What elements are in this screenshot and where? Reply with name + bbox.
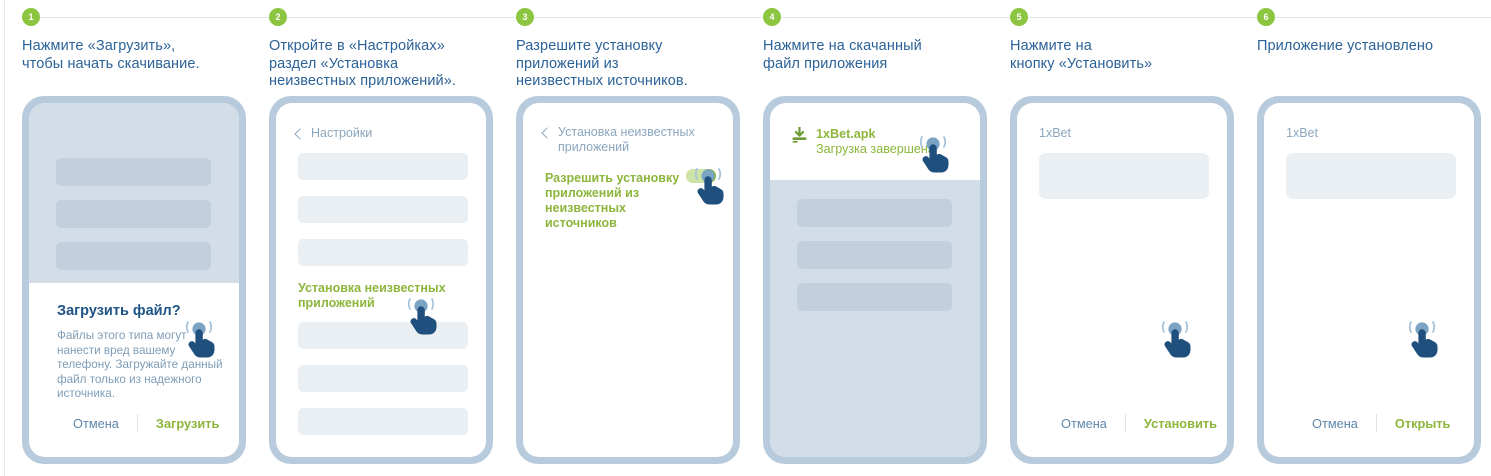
chevron-left-icon[interactable]	[294, 128, 305, 139]
action-divider	[1125, 414, 1126, 432]
left-vertical-rule	[4, 0, 5, 476]
step-5-caption: Нажмите на кнопку «Установить»	[1010, 38, 1257, 73]
tap-hand-icon	[1156, 320, 1196, 362]
phone-frame: Загрузить файл? Файлы этого типа могут н…	[22, 96, 246, 464]
app-name-label: 1xBet	[1286, 126, 1318, 140]
install-dialog-actions: Отмена Установить	[1061, 414, 1217, 432]
step-1-header: 1	[22, 0, 269, 34]
settings-row[interactable]	[298, 365, 468, 392]
step-number-badge: 2	[269, 8, 287, 26]
cancel-button[interactable]: Отмена	[73, 416, 119, 431]
tap-hand-icon	[689, 167, 729, 209]
step-4: 4 Нажмите на скачанный файл приложения	[763, 0, 1010, 476]
step-1: 1 Нажмите «Загрузить», чтобы начать скач…	[22, 0, 269, 476]
phone-frame: Установка неизвестных приложений Разреши…	[516, 96, 740, 464]
settings-row[interactable]	[298, 408, 468, 435]
step-5-header: 5	[1010, 0, 1257, 34]
step-6-phone: 1xBet Отмена Открыть	[1257, 96, 1481, 464]
step-2-caption: Откройте в «Настройках» раздел «Установк…	[269, 38, 516, 91]
step-4-caption: Нажмите на скачанный файл приложения	[763, 38, 1010, 73]
skeleton-bar	[797, 283, 952, 311]
skeleton-bar	[56, 158, 211, 186]
app-name-header: 1xBet	[1286, 126, 1318, 140]
tap-hand-icon	[180, 320, 220, 362]
settings-row[interactable]	[298, 322, 468, 349]
tap-hand-icon	[914, 135, 954, 177]
dialog-actions: Отмена Загрузить	[73, 414, 219, 432]
step-connector-line	[1010, 17, 1257, 18]
step-4-phone: 1xBet.apk Загрузка завершена	[763, 96, 987, 464]
step-3-phone: Установка неизвестных приложений Разреши…	[516, 96, 740, 464]
download-icon	[792, 127, 807, 148]
step-6-header: 6	[1257, 0, 1491, 34]
settings-header: Настройки	[296, 126, 372, 140]
step-number-badge: 3	[516, 8, 534, 26]
step-1-caption: Нажмите «Загрузить», чтобы начать скачив…	[22, 38, 269, 73]
step-2-header: 2	[269, 0, 516, 34]
step-connector-line	[269, 17, 516, 18]
cancel-button[interactable]: Отмена	[1312, 416, 1358, 431]
step-3: 3 Разрешите установку приложений из неиз…	[516, 0, 763, 476]
step-number-badge: 1	[22, 8, 40, 26]
step-number-badge: 5	[1010, 8, 1028, 26]
skeleton-bar	[56, 242, 211, 270]
step-2-phone: Настройки Установка неизвестных приложен…	[269, 96, 493, 464]
step-6: 6 Приложение установлено 1xBet Отмена От…	[1257, 0, 1491, 476]
step-6-caption: Приложение установлено	[1257, 38, 1491, 56]
open-dialog-actions: Отмена Открыть	[1312, 414, 1450, 432]
app-content-placeholder	[1286, 153, 1456, 199]
step-number-badge: 4	[763, 8, 781, 26]
phone-screen: 1xBet Отмена Установить	[1017, 103, 1227, 457]
step-3-caption: Разрешите установку приложений из неизве…	[516, 38, 763, 91]
settings-header-label: Настройки	[311, 126, 372, 140]
phone-screen: Установка неизвестных приложений Разреши…	[523, 103, 733, 457]
step-4-header: 4	[763, 0, 1010, 34]
step-3-header: 3	[516, 0, 763, 34]
settings-row[interactable]	[298, 239, 468, 266]
tap-hand-icon	[1403, 320, 1443, 362]
allow-install-label: Разрешить установку приложений из неизве…	[545, 171, 700, 231]
action-divider	[137, 414, 138, 432]
phone-screen: Настройки Установка неизвестных приложен…	[276, 103, 486, 457]
tap-hand-icon	[402, 297, 442, 339]
step-connector-line	[516, 17, 763, 18]
cancel-button[interactable]: Отмена	[1061, 416, 1107, 431]
step-connector-line	[22, 17, 269, 18]
step-2: 2 Откройте в «Настройках» раздел «Устано…	[269, 0, 516, 476]
phone-frame: Настройки Установка неизвестных приложен…	[269, 96, 493, 464]
step-connector-line	[763, 17, 1010, 18]
phone-screen: 1xBet Отмена Открыть	[1264, 103, 1474, 457]
skeleton-bar	[797, 241, 952, 269]
settings-row[interactable]	[298, 153, 468, 180]
dialog-title: Загрузить файл?	[57, 303, 181, 319]
skeleton-bar	[797, 199, 952, 227]
step-1-phone: Загрузить файл? Файлы этого типа могут н…	[22, 96, 246, 464]
chevron-left-icon[interactable]	[541, 127, 552, 138]
step-5-phone: 1xBet Отмена Установить	[1010, 96, 1234, 464]
phone-frame: 1xBet Отмена Открыть	[1257, 96, 1481, 464]
phone-frame: 1xBet Отмена Установить	[1010, 96, 1234, 464]
settings-row[interactable]	[298, 196, 468, 223]
step-5: 5 Нажмите на кнопку «Установить» 1xBet О…	[1010, 0, 1257, 476]
app-name-header: 1xBet	[1039, 126, 1071, 140]
download-button[interactable]: Загрузить	[156, 416, 219, 431]
install-button[interactable]: Установить	[1144, 416, 1217, 431]
open-button[interactable]: Открыть	[1395, 416, 1451, 431]
phone-screen: Загрузить файл? Файлы этого типа могут н…	[29, 103, 239, 457]
app-content-placeholder	[1039, 153, 1209, 199]
step-number-badge: 6	[1257, 8, 1275, 26]
action-divider	[1376, 414, 1377, 432]
app-name-label: 1xBet	[1039, 126, 1071, 140]
unknown-apps-setting-label[interactable]: Установка неизвестных приложений	[298, 281, 478, 311]
skeleton-bar	[56, 200, 211, 228]
unknown-apps-header: Установка неизвестных приложений	[543, 125, 708, 155]
installation-steps-container: 1 Нажмите «Загрузить», чтобы начать скач…	[0, 0, 1491, 476]
step-connector-line	[1257, 17, 1491, 18]
unknown-apps-header-label: Установка неизвестных приложений	[558, 125, 695, 155]
